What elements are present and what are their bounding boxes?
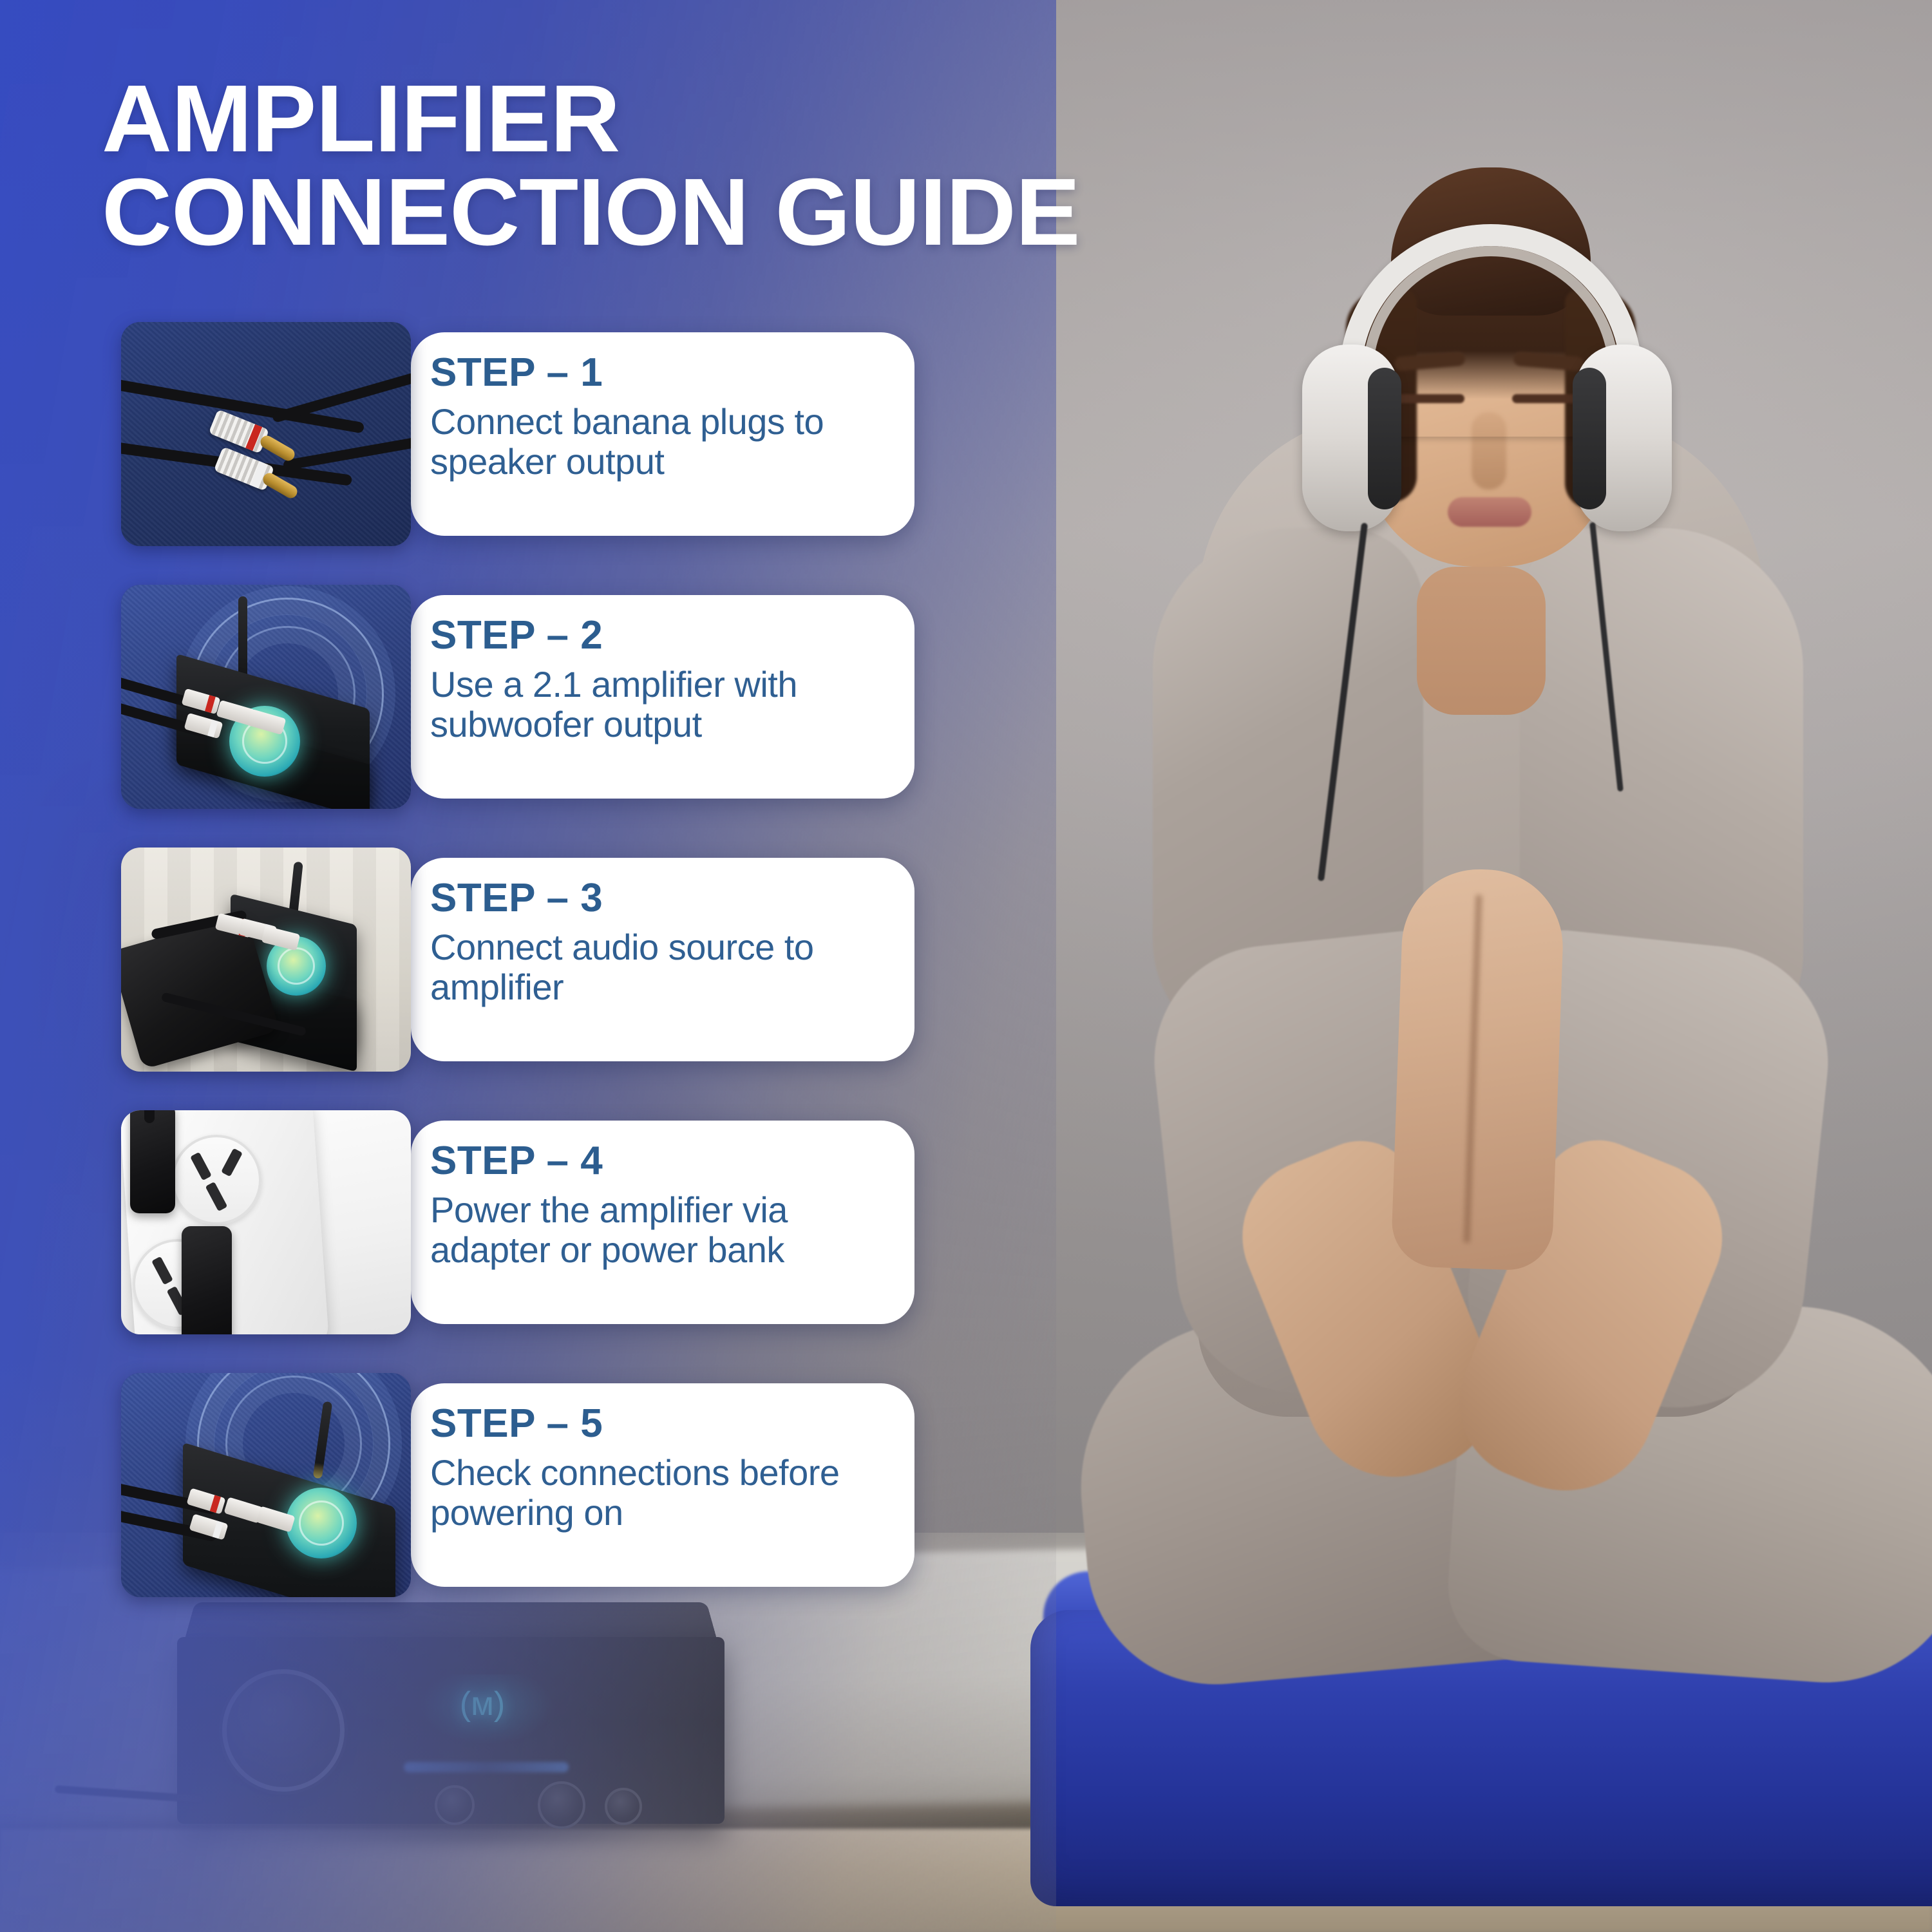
step-1-heading: STEP – 1 [430, 353, 907, 393]
headphone-earcup-left [1302, 345, 1399, 531]
step-card-1-text: STEP – 1 Connect banana plugs to speaker… [430, 353, 907, 481]
phone-connected-to-amplifier-photo [121, 848, 411, 1072]
banana-plugs-on-blue-fabric-photo [121, 322, 411, 546]
step-card-2[interactable]: STEP – 2 Use a 2.1 amplifier with subwoo… [121, 585, 914, 809]
headphone-earcup-right [1575, 345, 1672, 531]
step-card-5[interactable]: STEP – 5 Check connections before poweri… [121, 1373, 914, 1597]
step-card-2-text: STEP – 2 Use a 2.1 amplifier with subwoo… [430, 616, 907, 744]
step-3-description: Connect audio source to amplifier [430, 927, 907, 1007]
step-2-heading: STEP – 2 [430, 616, 907, 656]
step-5-heading: STEP – 5 [430, 1404, 907, 1444]
step-3-heading: STEP – 3 [430, 878, 907, 918]
steps-list: STEP – 1 Connect banana plugs to speaker… [0, 0, 1056, 1932]
step-4-heading: STEP – 4 [430, 1141, 907, 1181]
step-card-4[interactable]: STEP – 4 Power the amplifier via adapter… [121, 1110, 914, 1334]
step-card-1[interactable]: STEP – 1 Connect banana plugs to speaker… [121, 322, 914, 546]
praying-hands [1390, 867, 1565, 1271]
woman-meditating-with-headphones [1005, 77, 1932, 1932]
amplifier-cable-check-photo [121, 1373, 411, 1597]
step-4-description: Power the amplifier via adapter or power… [430, 1190, 907, 1269]
step-1-description: Connect banana plugs to speaker output [430, 402, 907, 481]
step-card-5-text: STEP – 5 Check connections before poweri… [430, 1404, 907, 1532]
step-5-description: Check connections before powering on [430, 1453, 907, 1532]
lips [1448, 497, 1531, 527]
step-card-3[interactable]: STEP – 3 Connect audio source to amplifi… [121, 848, 914, 1072]
power-strip-with-adapters-photo [121, 1110, 411, 1334]
step-card-4-text: STEP – 4 Power the amplifier via adapter… [430, 1141, 907, 1269]
step-card-3-text: STEP – 3 Connect audio source to amplifi… [430, 878, 907, 1007]
step-2-description: Use a 2.1 amplifier with subwoofer outpu… [430, 665, 907, 744]
neck [1417, 567, 1546, 715]
amplifier-on-blue-mat-photo [121, 585, 411, 809]
